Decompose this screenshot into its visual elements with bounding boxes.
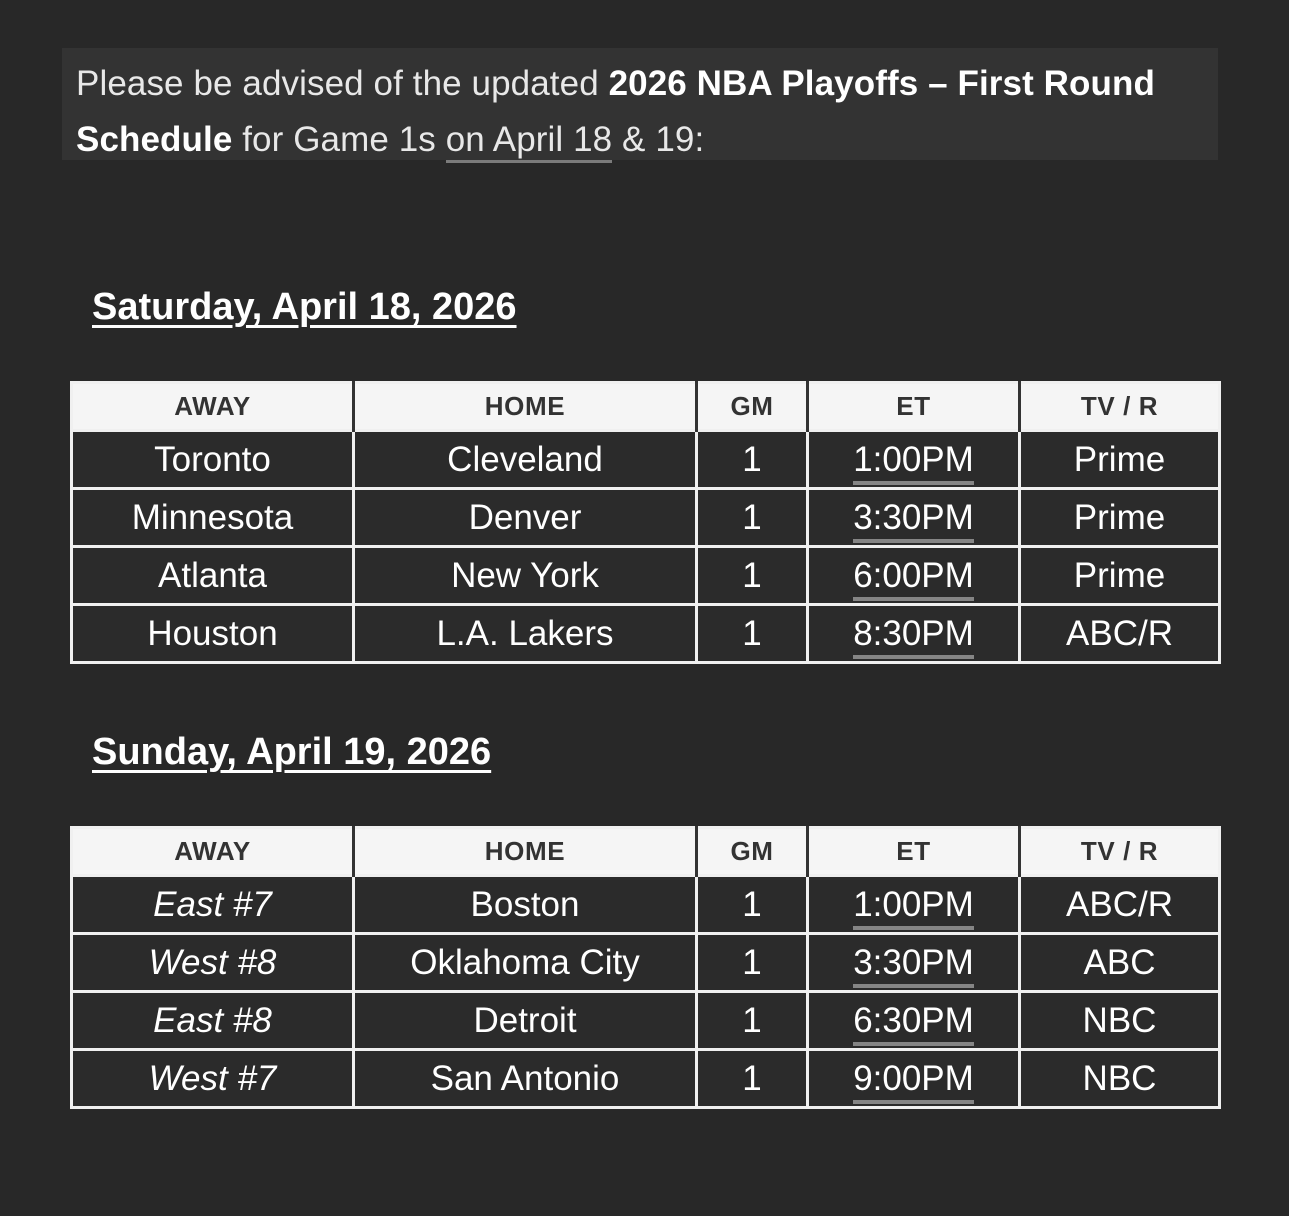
cell-gm: 1 <box>697 431 808 489</box>
table-row: Atlanta New York 1 6:00PM Prime <box>72 547 1220 605</box>
cell-et-value: 6:00PM <box>853 556 974 601</box>
cell-gm: 1 <box>697 489 808 547</box>
cell-tv: ABC/R <box>1020 876 1220 934</box>
table-header-row: AWAY HOME GM ET TV / R <box>72 828 1220 876</box>
table-row: Houston L.A. Lakers 1 8:30PM ABC/R <box>72 605 1220 663</box>
cell-et: 1:00PM <box>808 876 1020 934</box>
cell-home: New York <box>354 547 697 605</box>
cell-et: 3:30PM <box>808 934 1020 992</box>
cell-away: Minnesota <box>72 489 354 547</box>
column-header-et: ET <box>808 383 1020 431</box>
cell-et-value: 3:30PM <box>853 943 974 988</box>
cell-tv: Prime <box>1020 489 1220 547</box>
cell-et: 3:30PM <box>808 489 1020 547</box>
cell-gm: 1 <box>697 934 808 992</box>
cell-et-value: 9:00PM <box>853 1059 974 1104</box>
day-heading-saturday: Saturday, April 18, 2026 <box>92 286 517 329</box>
cell-home: L.A. Lakers <box>354 605 697 663</box>
advisory-middle: for Game 1s <box>232 120 445 159</box>
cell-et: 9:00PM <box>808 1050 1020 1108</box>
cell-away: Houston <box>72 605 354 663</box>
column-header-home: HOME <box>354 383 697 431</box>
advisory-message-block: Please be advised of the updated 2026 NB… <box>62 48 1218 160</box>
cell-et-value: 1:00PM <box>853 885 974 930</box>
cell-home: Denver <box>354 489 697 547</box>
advisory-suffix: & 19: <box>612 120 704 159</box>
table-row: West #8 Oklahoma City 1 3:30PM ABC <box>72 934 1220 992</box>
cell-gm: 1 <box>697 547 808 605</box>
advisory-message-text: Please be advised of the updated 2026 NB… <box>76 56 1206 168</box>
cell-tv: NBC <box>1020 992 1220 1050</box>
cell-tv: Prime <box>1020 547 1220 605</box>
column-header-tv: TV / R <box>1020 828 1220 876</box>
cell-et-value: 3:30PM <box>853 498 974 543</box>
column-header-tv: TV / R <box>1020 383 1220 431</box>
schedule-table-sunday: AWAY HOME GM ET TV / R East #7 Boston 1 … <box>70 826 1221 1109</box>
cell-away: East #8 <box>72 992 354 1050</box>
table-header-row: AWAY HOME GM ET TV / R <box>72 383 1220 431</box>
advisory-spellcheck-phrase: on April 18 <box>446 120 613 163</box>
cell-tv: Prime <box>1020 431 1220 489</box>
cell-tv: ABC <box>1020 934 1220 992</box>
cell-home: Oklahoma City <box>354 934 697 992</box>
cell-et-value: 6:30PM <box>853 1001 974 1046</box>
cell-away: East #7 <box>72 876 354 934</box>
column-header-gm: GM <box>697 383 808 431</box>
cell-gm: 1 <box>697 605 808 663</box>
cell-away: West #8 <box>72 934 354 992</box>
cell-tv: ABC/R <box>1020 605 1220 663</box>
cell-away: West #7 <box>72 1050 354 1108</box>
cell-et: 6:30PM <box>808 992 1020 1050</box>
cell-home: Detroit <box>354 992 697 1050</box>
cell-home: Boston <box>354 876 697 934</box>
table-row: West #7 San Antonio 1 9:00PM NBC <box>72 1050 1220 1108</box>
cell-gm: 1 <box>697 992 808 1050</box>
column-header-away: AWAY <box>72 383 354 431</box>
cell-away: Toronto <box>72 431 354 489</box>
schedule-table-saturday: AWAY HOME GM ET TV / R Toronto Cleveland… <box>70 381 1221 664</box>
cell-home: Cleveland <box>354 431 697 489</box>
column-header-home: HOME <box>354 828 697 876</box>
table-row: Minnesota Denver 1 3:30PM Prime <box>72 489 1220 547</box>
column-header-et: ET <box>808 828 1020 876</box>
cell-et: 8:30PM <box>808 605 1020 663</box>
cell-gm: 1 <box>697 1050 808 1108</box>
cell-home: San Antonio <box>354 1050 697 1108</box>
cell-et: 1:00PM <box>808 431 1020 489</box>
table-row: Toronto Cleveland 1 1:00PM Prime <box>72 431 1220 489</box>
cell-et-value: 8:30PM <box>853 614 974 659</box>
cell-gm: 1 <box>697 876 808 934</box>
table-row: East #8 Detroit 1 6:30PM NBC <box>72 992 1220 1050</box>
table-row: East #7 Boston 1 1:00PM ABC/R <box>72 876 1220 934</box>
column-header-gm: GM <box>697 828 808 876</box>
cell-away: Atlanta <box>72 547 354 605</box>
cell-tv: NBC <box>1020 1050 1220 1108</box>
advisory-prefix: Please be advised of the updated <box>76 64 609 103</box>
cell-et-value: 1:00PM <box>853 440 974 485</box>
day-heading-sunday: Sunday, April 19, 2026 <box>92 731 491 774</box>
column-header-away: AWAY <box>72 828 354 876</box>
cell-et: 6:00PM <box>808 547 1020 605</box>
